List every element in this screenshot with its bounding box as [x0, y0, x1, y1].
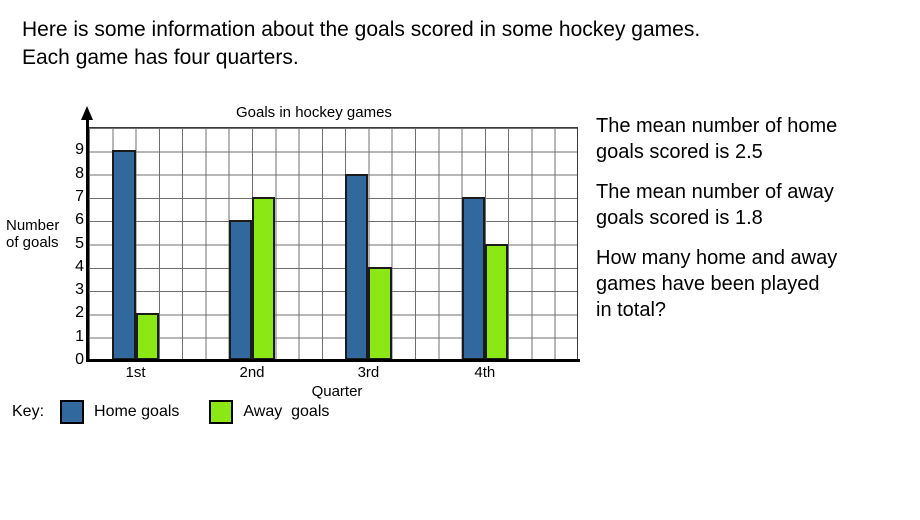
y-tick-label: 1: [64, 329, 84, 345]
y-axis-title: Number of goals: [6, 217, 82, 251]
intro-paragraph: Here is some information about the goals…: [22, 16, 882, 72]
x-tick-label-3rd: 3rd: [358, 364, 380, 381]
chart-title: Goals in hockey games: [236, 104, 392, 121]
bar-home-4th: [462, 197, 485, 360]
legend-swatch-away-icon: [209, 400, 233, 424]
bar-away-2nd: [252, 197, 275, 360]
legend-label-away: Away goals: [243, 403, 329, 421]
y-tick-label: 9: [64, 142, 84, 158]
chart-legend: Key: Home goals Away goals: [12, 400, 359, 424]
y-tick-label: 8: [64, 166, 84, 182]
x-tick-label-2nd: 2nd: [239, 364, 264, 381]
y-axis-line: [86, 118, 89, 362]
statements-panel: The mean number of home goals scored is …: [596, 113, 916, 337]
statement-mean-home: The mean number of home goals scored is …: [596, 113, 916, 165]
y-tick-label: 3: [64, 282, 84, 298]
x-axis-line: [86, 359, 580, 362]
y-tick-label: 2: [64, 305, 84, 321]
bar-home-1st: [112, 150, 135, 360]
legend-item-away: Away goals: [209, 400, 329, 424]
bar-away-4th: [485, 244, 508, 361]
x-tick-label-1st: 1st: [126, 364, 146, 381]
plot-area: [89, 127, 578, 360]
y-tick-label: 0: [64, 352, 84, 368]
legend-swatch-home-icon: [60, 400, 84, 424]
legend-title: Key:: [12, 403, 44, 421]
bar-home-2nd: [229, 220, 252, 360]
legend-label-home: Home goals: [94, 403, 179, 421]
statement-mean-away: The mean number of away goals scored is …: [596, 179, 916, 231]
bar-chart: Goals in hockey games 9876543210 Number …: [0, 100, 600, 400]
bar-home-3rd: [345, 174, 368, 360]
y-tick-label: 4: [64, 259, 84, 275]
bar-away-1st: [136, 313, 159, 360]
legend-item-home: Home goals: [60, 400, 179, 424]
x-tick-label-4th: 4th: [474, 364, 495, 381]
x-axis-title: Quarter: [312, 383, 363, 400]
bar-away-3rd: [368, 267, 391, 360]
y-tick-label: 7: [64, 189, 84, 205]
statement-question: How many home and away games have been p…: [596, 245, 916, 323]
